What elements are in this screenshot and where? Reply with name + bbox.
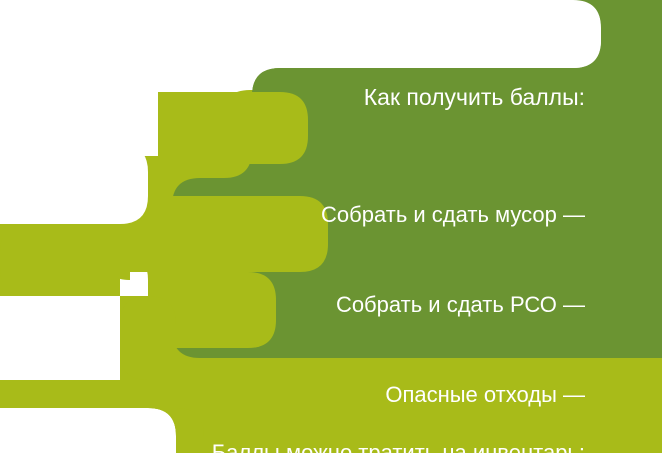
spend-block: Баллы можно тратить на инвентарь: Тележк… [212, 378, 585, 453]
earn-heading: Как получить баллы: [364, 82, 585, 112]
poster-canvas: Как получить баллы: Собрать и сдать мусо… [0, 0, 662, 453]
poster-text-layer: Как получить баллы: Собрать и сдать мусо… [0, 0, 662, 453]
spend-heading: Баллы можно тратить на инвентарь: [212, 438, 585, 453]
earn-list-item-1: Собрать и сдать РСО — [86, 290, 585, 320]
earn-list-item-0: Собрать и сдать мусор — [86, 200, 585, 230]
